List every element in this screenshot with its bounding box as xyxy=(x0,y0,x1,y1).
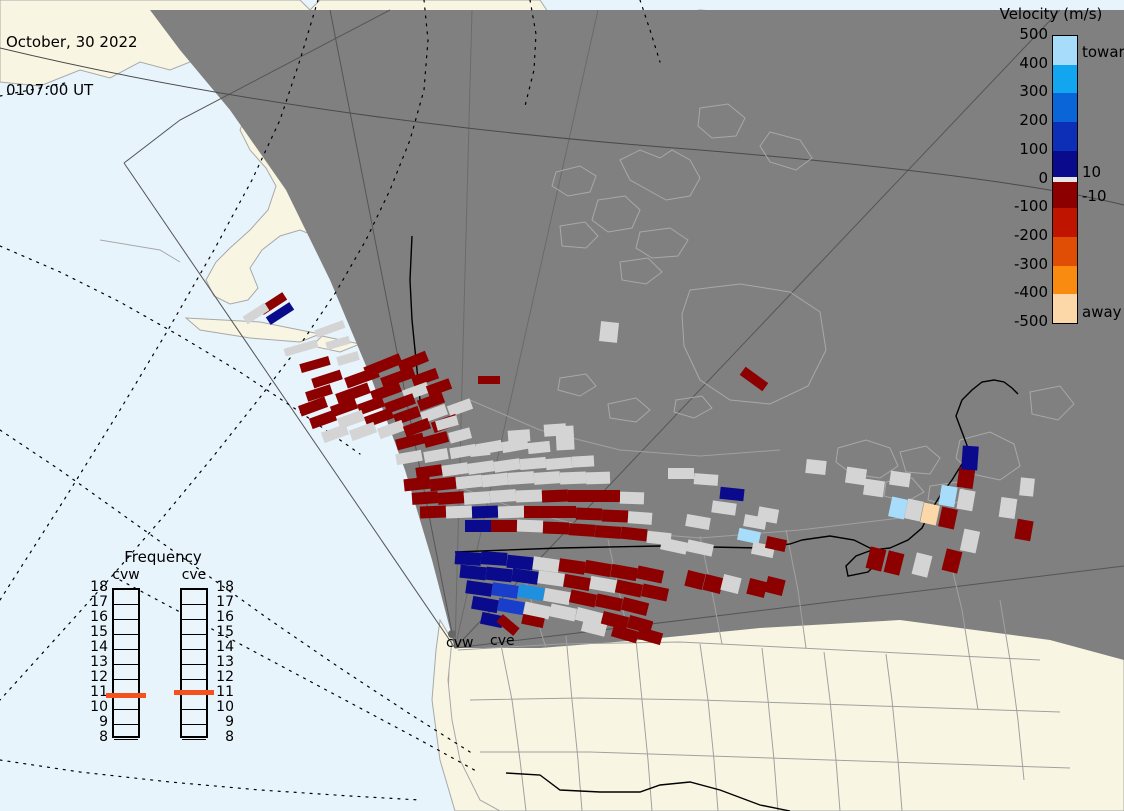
colorbar-band xyxy=(1053,93,1077,123)
frequency-scale-label: 13 xyxy=(86,654,108,670)
colorbar-tick-label: -500 xyxy=(988,312,1048,330)
frequency-scale-label: 13 xyxy=(212,654,234,670)
colorbar-tick-label: 400 xyxy=(988,54,1048,72)
velocity-cell xyxy=(446,506,472,519)
frequency-tick-segment xyxy=(114,590,138,605)
velocity-cell xyxy=(628,511,653,525)
colorbar-band xyxy=(1053,122,1077,152)
velocity-cell xyxy=(481,551,508,566)
velocity-cell xyxy=(889,471,911,488)
frequency-tick-segment xyxy=(182,665,206,680)
frequency-legend-title: Frequency xyxy=(88,548,238,566)
frequency-scale-label: 17 xyxy=(212,594,234,610)
site-label-cve: cve xyxy=(490,633,515,649)
velocity-cell xyxy=(560,472,586,485)
colorbar-minus-ten-label: -10 xyxy=(1082,187,1107,205)
plot-timestamp: October, 30 2022 0107:00 UT xyxy=(6,2,138,130)
velocity-cell xyxy=(455,551,482,566)
colorbar-band xyxy=(1053,208,1077,238)
frequency-tick-segment xyxy=(114,665,138,680)
frequency-tick-segment xyxy=(182,590,206,605)
velocity-cell xyxy=(412,491,439,505)
frequency-scale-label: 17 xyxy=(86,594,108,610)
frequency-tick-segment xyxy=(182,635,206,650)
colorbar-title: Velocity (m/s) xyxy=(978,5,1124,23)
frequency-scale-label: 14 xyxy=(86,639,108,655)
velocity-cell xyxy=(595,525,622,539)
frequency-tick-segment xyxy=(182,605,206,620)
velocity-cell xyxy=(668,468,694,479)
velocity-cell xyxy=(845,467,867,486)
frequency-tick-segment xyxy=(182,695,206,710)
velocity-cell xyxy=(465,520,491,532)
plot-date: October, 30 2022 xyxy=(6,34,138,50)
frequency-scale-label: 18 xyxy=(86,579,108,595)
frequency-scale-label: 18 xyxy=(212,579,234,595)
velocity-cell xyxy=(506,555,533,571)
velocity-cell xyxy=(527,441,550,454)
velocity-cell xyxy=(420,506,446,519)
colorbar-band xyxy=(1053,36,1077,66)
velocity-cell xyxy=(534,471,561,485)
site-label-cvw: cvw xyxy=(446,635,473,651)
colorbar-toward-label: toward xyxy=(1082,43,1124,61)
colorbar-band xyxy=(1053,182,1077,209)
velocity-cell xyxy=(546,457,573,470)
colorbar-tick-label: -400 xyxy=(988,283,1048,301)
frequency-bar-cvw[interactable] xyxy=(112,588,140,738)
velocity-cell xyxy=(576,508,602,521)
velocity-cell xyxy=(999,497,1018,519)
velocity-cell xyxy=(470,445,491,457)
velocity-cell xyxy=(957,467,976,489)
velocity-cell xyxy=(517,520,543,533)
velocity-cell xyxy=(568,490,594,502)
frequency-scale-label: 16 xyxy=(86,609,108,625)
velocity-cell xyxy=(478,376,500,384)
velocity-cell xyxy=(694,473,719,486)
frequency-tick-segment xyxy=(114,605,138,620)
colorbar-strip xyxy=(1052,35,1078,324)
frequency-scale-label: 10 xyxy=(212,699,234,715)
velocity-colorbar: Velocity (m/s) 5004003002001000-100-200-… xyxy=(1010,5,1124,335)
frequency-scale-label: 11 xyxy=(86,684,108,700)
velocity-cell xyxy=(516,490,542,503)
colorbar-tick-label: 0 xyxy=(988,169,1048,187)
colorbar-band xyxy=(1053,266,1077,296)
frequency-tick-segment xyxy=(114,650,138,665)
frequency-tick-segment xyxy=(182,725,206,740)
velocity-cell xyxy=(1019,477,1035,496)
velocity-cell xyxy=(599,321,619,343)
colorbar-tick-label: -300 xyxy=(988,255,1048,273)
frequency-scale-label: 14 xyxy=(212,639,234,655)
frequency-scale-label: 12 xyxy=(212,669,234,685)
colorbar-tick-label: -100 xyxy=(988,197,1048,215)
frequency-scale-label: 12 xyxy=(86,669,108,685)
velocity-cell xyxy=(508,471,535,485)
velocity-cell xyxy=(586,472,610,485)
velocity-cell xyxy=(719,487,744,501)
velocity-cell xyxy=(485,567,512,583)
velocity-cell xyxy=(520,457,547,470)
velocity-cell xyxy=(594,490,620,502)
frequency-tick-segment xyxy=(114,710,138,725)
plot-time: 0107:00 UT xyxy=(6,82,138,98)
frequency-scale-label: 15 xyxy=(212,624,234,640)
frequency-scale-label: 8 xyxy=(212,729,234,745)
velocity-cell xyxy=(550,506,576,518)
velocity-cell xyxy=(602,510,628,523)
colorbar-band xyxy=(1053,65,1077,95)
colorbar-plus-ten-label: 10 xyxy=(1082,163,1101,181)
velocity-cell xyxy=(543,522,569,535)
frequency-marker-cve xyxy=(174,690,214,695)
colorbar-away-label: away xyxy=(1082,303,1122,321)
frequency-tick-segment xyxy=(182,710,206,725)
velocity-cell xyxy=(459,565,486,581)
velocity-cell xyxy=(464,491,491,505)
velocity-cell xyxy=(555,426,574,451)
frequency-scale-label: 9 xyxy=(86,714,108,730)
velocity-cell xyxy=(961,445,979,470)
frequency-tick-segment xyxy=(114,725,138,740)
colorbar-band xyxy=(1053,151,1077,178)
colorbar-tick-label: 500 xyxy=(988,25,1048,43)
velocity-cell xyxy=(938,485,957,507)
frequency-scale-label: 9 xyxy=(212,714,234,730)
colorbar-tick-label: -200 xyxy=(988,226,1048,244)
velocity-cell xyxy=(472,506,498,519)
velocity-cell xyxy=(956,489,975,511)
velocity-cell xyxy=(524,506,550,518)
frequency-tick-segment xyxy=(114,635,138,650)
velocity-cell xyxy=(498,506,524,519)
frequency-marker-cvw xyxy=(106,693,146,698)
frequency-bar-cve[interactable] xyxy=(180,588,208,738)
colorbar-tick-label: 300 xyxy=(988,82,1048,100)
frequency-scale-label: 11 xyxy=(212,684,234,700)
velocity-cell xyxy=(438,491,465,505)
colorbar-band xyxy=(1053,294,1077,323)
colorbar-tick-label: 200 xyxy=(988,111,1048,129)
frequency-legend: Frequency cvw cve 18171615141312111098 1… xyxy=(88,548,238,798)
velocity-cell xyxy=(490,489,517,503)
frequency-scale-label: 10 xyxy=(86,699,108,715)
velocity-cell xyxy=(863,479,885,498)
frequency-scale-label: 15 xyxy=(86,624,108,640)
velocity-cell xyxy=(805,459,826,475)
velocity-cell xyxy=(1014,519,1033,541)
velocity-cell xyxy=(491,520,517,532)
superdarn-fan-plot: October, 30 2022 0107:00 UT cvw cve Velo… xyxy=(0,0,1124,811)
frequency-tick-segment xyxy=(182,650,206,665)
frequency-scale-label: 16 xyxy=(212,609,234,625)
frequency-tick-segment xyxy=(182,620,206,635)
frequency-scale-label: 8 xyxy=(86,729,108,745)
velocity-cell xyxy=(569,523,596,537)
velocity-cell xyxy=(620,492,644,505)
velocity-cell xyxy=(572,455,595,467)
velocity-cell xyxy=(508,429,531,443)
colorbar-band xyxy=(1053,237,1077,267)
colorbar-tick-label: 100 xyxy=(988,140,1048,158)
velocity-cell xyxy=(542,490,568,503)
frequency-tick-segment xyxy=(114,620,138,635)
